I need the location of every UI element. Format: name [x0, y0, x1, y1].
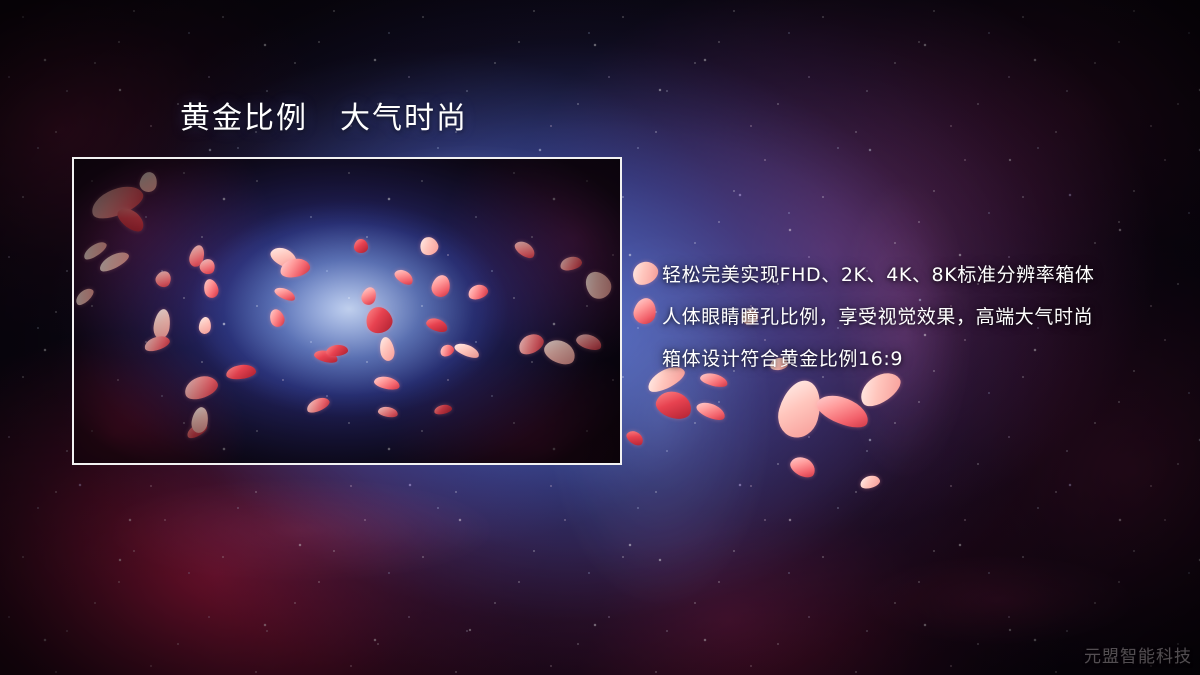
petal: [813, 389, 873, 433]
feature-description-text: 轻松完美实现FHD、2K、4K、8K标准分辨率箱体 人体眼睛瞳孔比例，享受视觉效…: [662, 254, 1182, 380]
petal: [694, 399, 727, 423]
petal: [628, 257, 662, 289]
panel-vignette: [74, 159, 620, 463]
description-line-3: 箱体设计符合黄金比例16:9: [662, 338, 1182, 380]
petal: [632, 296, 659, 326]
presentation-slide: 黄金比例 大气时尚 轻松完美实现FHD、2K、4K、8K标准分辨率箱体 人体眼睛…: [0, 0, 1200, 675]
petal: [859, 473, 882, 490]
petal: [787, 453, 818, 481]
description-line-2: 人体眼睛瞳孔比例，享受视觉效果，高端大气时尚: [662, 296, 1182, 338]
description-line-1: 轻松完美实现FHD、2K、4K、8K标准分辨率箱体: [662, 254, 1182, 296]
petal: [773, 376, 827, 443]
company-watermark: 元盟智能科技: [1084, 642, 1192, 667]
slide-title: 黄金比例 大气时尚: [180, 100, 468, 138]
petal: [653, 387, 695, 423]
golden-ratio-display-panel: [72, 157, 622, 465]
petal: [624, 428, 646, 448]
